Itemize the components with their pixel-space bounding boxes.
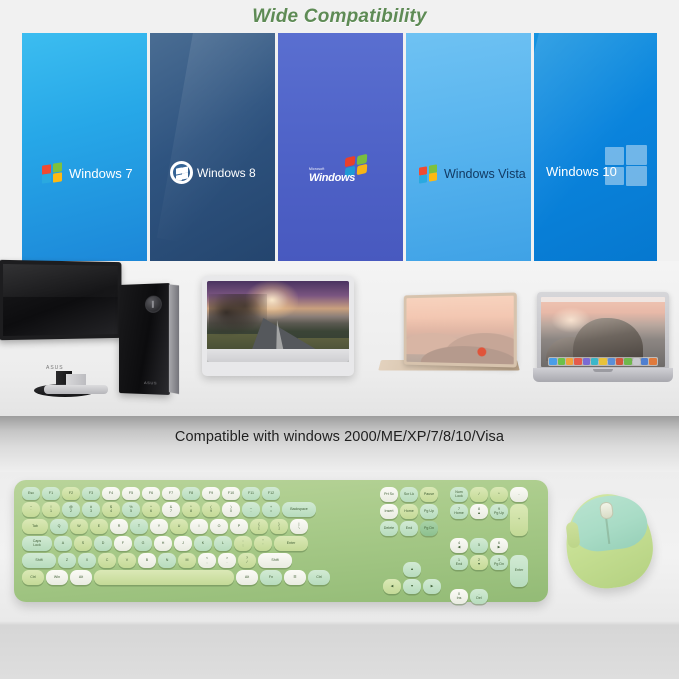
key-0[interactable]: ) 0 [222, 502, 240, 517]
os-compatibility-panels: Windows 7 Windows 8 Microsoft Windows Wi… [22, 33, 657, 261]
key-f7[interactable]: F7 [162, 487, 180, 500]
key-f6[interactable]: F6 [142, 487, 160, 500]
key-d[interactable]: D [94, 536, 112, 551]
key-t[interactable]: T [130, 519, 148, 534]
os-panel-windows-xp: Microsoft Windows [278, 33, 403, 261]
key-num-lock[interactable]: Num Lock [450, 487, 468, 502]
monitor-screen [0, 260, 121, 340]
wireless-mouse[interactable] [566, 494, 652, 588]
key-arrow-up[interactable]: ▲ [403, 562, 421, 577]
key-h[interactable]: H [154, 536, 172, 551]
key-f3[interactable]: F3 [82, 487, 100, 500]
key-pg-dn[interactable]: Pg Dn [420, 521, 438, 536]
key-8[interactable]: 8 ▲ [470, 504, 488, 519]
key-j[interactable]: J [174, 536, 192, 551]
product-showcase: EscF1F2F3F4F5F6F7F8F9F10F11F12~ `! 1@ 2#… [0, 472, 679, 679]
key-[interactable]: + = [262, 502, 280, 517]
key-g[interactable]: G [134, 536, 152, 551]
key-a[interactable]: A [54, 536, 72, 551]
keyboard-nav-cluster: Prt ScScr LkPauseInsertHomePg UpDeleteEn… [380, 487, 444, 538]
key-space[interactable] [94, 570, 234, 585]
key-7[interactable]: & 7 [162, 502, 180, 517]
macbook-lid [537, 292, 669, 372]
desktop-monitor: ASUS [0, 261, 124, 339]
key-esc[interactable]: Esc [22, 487, 40, 500]
key-s[interactable]: S [74, 536, 92, 551]
key-alt[interactable]: Alt [236, 570, 258, 585]
key-i[interactable]: I [190, 519, 208, 534]
dock-icon [591, 358, 598, 365]
key-f12[interactable]: F12 [262, 487, 280, 500]
key-[interactable]: ~ ` [22, 502, 40, 517]
compatibility-caption: Compatible with windows 2000/ME/XP/7/8/1… [0, 429, 679, 445]
surface-laptop-screen [406, 296, 513, 365]
key-f10[interactable]: F10 [222, 487, 240, 500]
key-[interactable]: ☰ [284, 570, 306, 585]
key-ctrl[interactable]: Ctrl [22, 570, 44, 585]
surface-laptop-lid [404, 292, 517, 367]
key-3[interactable]: # 3 [82, 502, 100, 517]
key-f11[interactable]: F11 [242, 487, 260, 500]
key-0-ins[interactable]: 0 Ins [450, 589, 468, 604]
all-in-one-base [44, 385, 108, 394]
key-r[interactable]: R [110, 519, 128, 534]
key-1[interactable]: ! 1 [42, 502, 60, 517]
key-k[interactable]: K [194, 536, 212, 551]
key-y[interactable]: Y [150, 519, 168, 534]
surface-laptop [381, 294, 517, 386]
key-[interactable]: < , [198, 553, 216, 568]
keyboard-row: ShiftZXCVBNM< ,> .? /Shift [22, 553, 374, 568]
key-2[interactable]: @ 2 [62, 502, 80, 517]
keyboard-numpad-cluster: Num Lock/*-7 Home8 ▲9 Pg Up+4 ◀56 ▶1 End… [450, 487, 540, 606]
panel-sheen [157, 33, 275, 261]
tower-power-dial [145, 295, 162, 313]
key-3-pg-dn[interactable]: 3 Pg Dn [490, 555, 508, 570]
wireless-keyboard[interactable]: EscF1F2F3F4F5F6F7F8F9F10F11F12~ `! 1@ 2#… [14, 480, 548, 602]
keyboard-row: CtrlWinAltAltFn☰Ctrl [22, 570, 374, 585]
mouse-scroll-wheel[interactable] [599, 501, 614, 519]
keyboard-row: Num Lock/*- [450, 487, 540, 502]
dock-icon [633, 358, 640, 365]
key-delete[interactable]: Delete [380, 521, 398, 536]
macbook-dock [548, 357, 657, 366]
key-4[interactable]: 4 ◀ [450, 538, 468, 553]
key-[interactable]: ? / [238, 553, 256, 568]
dock-icon [566, 358, 573, 365]
keyboard-row: 1 End2 ▼3 Pg DnEnter [450, 555, 540, 587]
os-label-windows-7: Windows 7 [69, 166, 133, 181]
key-u[interactable]: U [170, 519, 188, 534]
key-f1[interactable]: F1 [42, 487, 60, 500]
dock-icon [616, 358, 623, 365]
key-n[interactable]: N [158, 553, 176, 568]
os-panel-windows-vista: Windows Vista [406, 33, 531, 261]
key-9[interactable]: ( 9 [202, 502, 220, 517]
keyboard-row: 0 Ins. Del [450, 589, 540, 604]
key-[interactable]: + [510, 504, 528, 536]
key-o[interactable]: O [210, 519, 228, 534]
key-f2[interactable]: F2 [62, 487, 80, 500]
key-w[interactable]: W [70, 519, 88, 534]
key-[interactable]: _ - [242, 502, 260, 517]
dock-icon [599, 358, 606, 365]
os-sublabel-windows-xp: Microsoft [309, 167, 325, 171]
key-6[interactable]: 6 ▶ [490, 538, 508, 553]
dock-icon [583, 358, 590, 365]
key-f4[interactable]: F4 [102, 487, 120, 500]
os-label-windows-8: Windows 8 [197, 166, 256, 180]
key-c[interactable]: C [98, 553, 116, 568]
macbook-screen [541, 297, 665, 367]
key-[interactable]: > . [218, 553, 236, 568]
os-panel-windows-10: Windows 10 [534, 33, 657, 261]
desktop-tower: ASUS [119, 283, 170, 395]
keyboard-row: ~ `! 1@ 2# 3$ 4% 5^ 6& 7* 8( 9) 0_ -+ =B… [22, 502, 374, 517]
tower-brand-label: ASUS [144, 380, 157, 385]
windows-xp-logo: Microsoft Windows [309, 155, 379, 187]
key-4[interactable]: $ 4 [102, 502, 120, 517]
macbook-laptop [533, 292, 673, 386]
all-in-one-screen [207, 281, 349, 362]
key-m[interactable]: M [178, 553, 196, 568]
key-[interactable]: " ' [254, 536, 272, 551]
key-[interactable]: } ] [270, 519, 288, 534]
page-title: Wide Compatibility [0, 2, 679, 32]
os-panel-windows-7: Windows 7 [22, 33, 147, 261]
keyboard-arrow-cluster: ▲◀▼▶ [380, 562, 444, 596]
key-arrow-down[interactable]: ▼ [403, 579, 421, 594]
key-f8[interactable]: F8 [182, 487, 200, 500]
key-1-end[interactable]: 1 End [450, 555, 468, 570]
macbook-notch [593, 369, 613, 372]
key-l[interactable]: L [214, 536, 232, 551]
key-shift[interactable]: Shift [258, 553, 292, 568]
key-q[interactable]: Q [50, 519, 68, 534]
os-label-windows-vista: Windows Vista [444, 167, 526, 181]
key-tab[interactable]: Tab [22, 519, 48, 534]
windows-flag-icon [42, 163, 64, 184]
key-enter[interactable]: Enter [274, 536, 308, 551]
key-ctrl[interactable]: Ctrl [308, 570, 330, 585]
os-label-windows-xp: Windows [309, 172, 355, 184]
key-[interactable]: - [510, 487, 528, 502]
key-win[interactable]: Win [46, 570, 68, 585]
keyboard-row: 4 ◀56 ▶ [450, 538, 540, 553]
keyboard-row: ◀▼▶ [380, 579, 444, 594]
key-del[interactable]: . Del [470, 589, 488, 604]
key-7-home[interactable]: 7 Home [450, 504, 468, 519]
key-e[interactable]: E [90, 519, 108, 534]
key-9-pg-up[interactable]: 9 Pg Up [490, 504, 508, 519]
key-p[interactable]: P [230, 519, 248, 534]
key-insert[interactable]: Insert [380, 504, 398, 519]
key-5[interactable]: % 5 [122, 502, 140, 517]
key-enter[interactable]: Enter [510, 555, 528, 587]
os-label-windows-10: Windows 10 [546, 164, 617, 179]
key-[interactable]: | \ [290, 519, 308, 534]
key-[interactable]: { [ [250, 519, 268, 534]
key-f9[interactable]: F9 [202, 487, 220, 500]
key-[interactable]: / [470, 487, 488, 502]
keyboard-row: TabQWERTYUIOP{ [} ]| \ [22, 519, 374, 534]
dock-icon [558, 358, 565, 365]
key-alt[interactable]: Alt [70, 570, 92, 585]
windows-flag-icon [419, 165, 438, 183]
keyboard-row: 7 Home8 ▲9 Pg Up+ [450, 504, 540, 536]
key-v[interactable]: V [118, 553, 136, 568]
key-2[interactable]: 2 ▼ [470, 555, 488, 570]
windows-circle-icon [170, 161, 193, 184]
key-shift[interactable]: Shift [22, 553, 56, 568]
keyboard-row: Prt ScScr LkPause [380, 487, 444, 502]
key-pause[interactable]: Pause [420, 487, 438, 502]
os-panel-windows-8: Windows 8 [150, 33, 275, 261]
keyboard-row: InsertHomePg Up [380, 504, 444, 519]
key-f[interactable]: F [114, 536, 132, 551]
key-f5[interactable]: F5 [122, 487, 140, 500]
key-pg-up[interactable]: Pg Up [420, 504, 438, 519]
key-z[interactable]: Z [58, 553, 76, 568]
key-b[interactable]: B [138, 553, 156, 568]
keyboard-row: Caps LockASDFGHJKL: ;" 'Enter [22, 536, 374, 551]
key-[interactable]: * [490, 487, 508, 502]
dock-icon [574, 358, 581, 365]
key-home[interactable]: Home [400, 504, 418, 519]
key-[interactable]: : ; [234, 536, 252, 551]
key-8[interactable]: * 8 [182, 502, 200, 517]
key-backspace[interactable]: Backspace [282, 502, 316, 517]
dock-icon [549, 358, 556, 365]
dock-icon [649, 358, 656, 365]
key-caps-lock[interactable]: Caps Lock [22, 536, 52, 551]
key-arrow-right[interactable]: ▶ [423, 579, 441, 594]
keyboard-row: ▲ [380, 562, 444, 577]
dock-icon [608, 358, 615, 365]
key-fn[interactable]: Fn [260, 570, 282, 585]
key-arrow-left[interactable]: ◀ [383, 579, 401, 594]
keyboard-main-cluster: EscF1F2F3F4F5F6F7F8F9F10F11F12~ `! 1@ 2#… [22, 487, 374, 587]
device-showcase-band: ASUS ASUS [0, 261, 679, 416]
dock-icon [641, 358, 648, 365]
key-scr-lk[interactable]: Scr Lk [400, 487, 418, 502]
key-x[interactable]: X [78, 553, 96, 568]
key-end[interactable]: End [400, 521, 418, 536]
keyboard-row: DeleteEndPg Dn [380, 521, 444, 536]
key-prt-sc[interactable]: Prt Sc [380, 487, 398, 502]
all-in-one-computer [202, 276, 354, 376]
key-5[interactable]: 5 [470, 538, 488, 553]
dock-icon [624, 358, 631, 365]
key-6[interactable]: ^ 6 [142, 502, 160, 517]
keyboard-row: EscF1F2F3F4F5F6F7F8F9F10F11F12 [22, 487, 374, 500]
